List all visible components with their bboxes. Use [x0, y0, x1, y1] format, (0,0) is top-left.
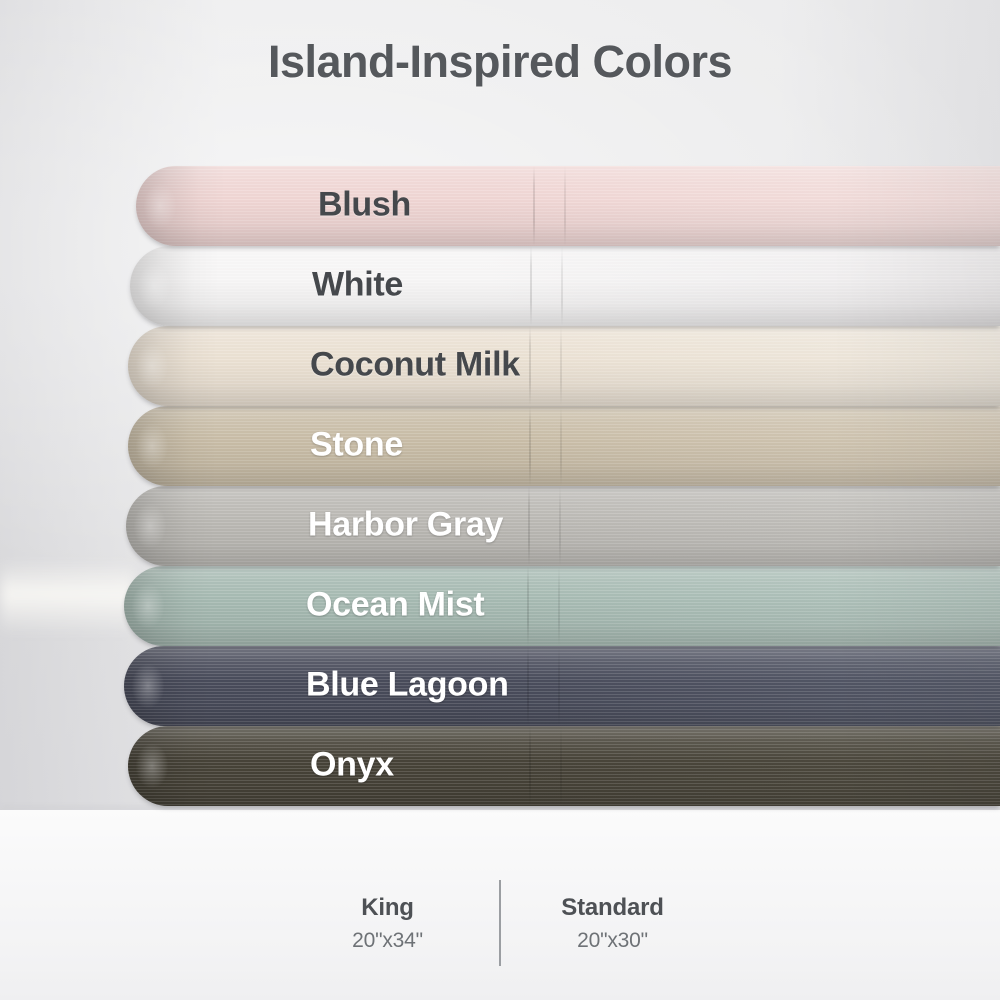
color-name-label: Harbor Gray [308, 506, 503, 545]
fold-end-shading [130, 416, 174, 476]
size-name: Standard [525, 894, 700, 922]
color-name-label: White [312, 266, 403, 305]
color-swatch-band[interactable]: White [130, 246, 1000, 326]
size-dimensions: 20"x34" [300, 929, 475, 953]
hem-stitch-line [527, 566, 529, 646]
color-swatch-band[interactable]: Blue Lagoon [124, 646, 1000, 726]
fold-end-shading [126, 656, 170, 716]
hem-stitch-line [560, 406, 562, 486]
color-swatch-band[interactable]: Ocean Mist [124, 566, 1000, 646]
hem-stitch-line [533, 166, 535, 246]
fabric-shading [830, 166, 1000, 246]
fold-end-shading [130, 736, 174, 796]
hem-stitch-line [560, 326, 562, 406]
color-name-label: Ocean Mist [306, 586, 484, 625]
fold-end-shading [132, 256, 176, 316]
hem-stitch-line [529, 726, 531, 806]
hem-stitch-line [561, 246, 563, 326]
color-name-label: Onyx [310, 746, 394, 785]
fold-end-shading [130, 336, 174, 396]
hem-stitch-line [558, 566, 560, 646]
color-name-label: Blue Lagoon [306, 666, 509, 705]
hem-stitch-line [529, 406, 531, 486]
fabric-shading [830, 646, 1000, 726]
page-title: Island-Inspired Colors [0, 36, 1000, 88]
color-swatch-band[interactable]: Coconut Milk [128, 326, 1000, 406]
fold-end-shading [128, 496, 172, 556]
color-name-label: Coconut Milk [310, 346, 520, 385]
size-dimensions: 20"x30" [525, 929, 700, 953]
fold-end-shading [126, 576, 170, 636]
fabric-shading [830, 566, 1000, 646]
fabric-shading [830, 246, 1000, 326]
hem-stitch-line [564, 166, 566, 246]
size-option-king[interactable]: King 20"x34" [300, 880, 475, 966]
fold-end-shading [138, 176, 182, 236]
hem-stitch-line [528, 486, 530, 566]
hem-stitch-line [559, 486, 561, 566]
size-name: King [300, 894, 475, 922]
color-swatch-band[interactable]: Onyx [128, 726, 1000, 806]
hem-stitch-line [560, 726, 562, 806]
hem-stitch-line [530, 246, 532, 326]
color-swatch-band[interactable]: Stone [128, 406, 1000, 486]
size-divider [499, 880, 501, 966]
size-options: King 20"x34" Standard 20"x30" [0, 880, 1000, 966]
color-swatch-band[interactable]: Harbor Gray [126, 486, 1000, 566]
fabric-shading [830, 726, 1000, 806]
hem-stitch-line [558, 646, 560, 726]
color-name-label: Blush [318, 186, 411, 225]
fabric-shading [830, 486, 1000, 566]
color-name-label: Stone [310, 426, 403, 465]
fabric-shading [830, 326, 1000, 406]
size-option-standard[interactable]: Standard 20"x30" [525, 880, 700, 966]
hem-stitch-line [529, 326, 531, 406]
hem-stitch-line [527, 646, 529, 726]
fabric-shading [830, 406, 1000, 486]
pillowcase-color-stack: BlushWhiteCoconut MilkStoneHarbor GrayOc… [0, 166, 1000, 814]
color-swatch-band[interactable]: Blush [136, 166, 1000, 246]
